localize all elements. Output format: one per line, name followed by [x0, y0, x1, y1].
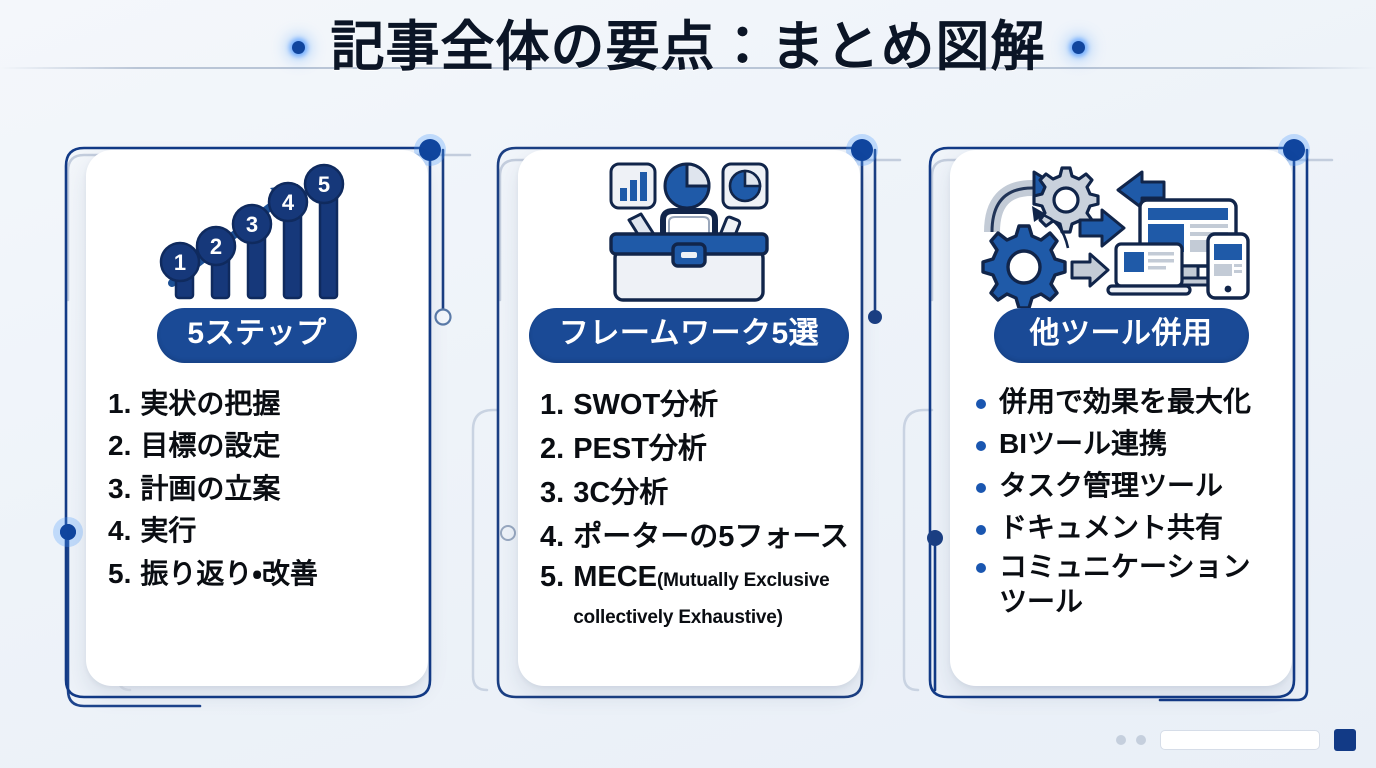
card-title-frameworks: フレームワーク5選	[529, 308, 849, 363]
list-item: ドキュメント共有	[976, 507, 1278, 549]
item-number: 4.	[108, 510, 131, 553]
list-item: コミュニケーションツール	[976, 549, 1278, 621]
step-growth-chart-icon: 1 2 3 4 5	[86, 150, 428, 308]
list-item: 4. ポーターの5フォース	[540, 515, 846, 559]
footer-controls	[1116, 729, 1356, 751]
item-number: 1.	[108, 383, 131, 426]
list-item: 2. 目標の設定	[108, 425, 414, 468]
item-text: 振り返り・改善	[140, 553, 414, 596]
list-item: 1. 実状の把握	[108, 383, 414, 426]
item-number: 4.	[540, 515, 564, 559]
list-item: 3. 3C分析	[540, 471, 846, 515]
progress-bar[interactable]	[1160, 730, 1320, 750]
card-frameworks[interactable]: フレームワーク5選 1. SWOT分析 2. PEST分析 3. 3C分析 4.…	[518, 150, 860, 686]
item-text: 併用で効果を最大化	[999, 381, 1278, 423]
item-text: MECE	[573, 561, 657, 593]
card-title-steps: 5ステップ	[157, 308, 356, 363]
item-number: 1.	[540, 383, 564, 427]
item-number: 3.	[540, 471, 564, 515]
title-right-dot-icon	[1072, 41, 1085, 54]
item-number: 3.	[108, 468, 131, 511]
step-label-1: 1	[173, 250, 185, 275]
list-item: 2. PEST分析	[540, 427, 846, 471]
item-text-wrap: MECE(Mutually Exclusive collectively Exh…	[573, 559, 846, 633]
footer-square-icon[interactable]	[1334, 729, 1356, 751]
item-number: 2.	[540, 427, 564, 471]
item-number: 2.	[108, 425, 131, 468]
list-item: BIツール連携	[976, 423, 1278, 465]
list-item: 5. 振り返り・改善	[108, 553, 414, 596]
item-text: タスク管理ツール	[999, 465, 1278, 507]
step-label-4: 4	[281, 190, 294, 215]
gears-devices-integration-icon	[950, 150, 1292, 308]
step-label-3: 3	[245, 212, 257, 237]
step-label-5: 5	[317, 172, 329, 197]
other-tools-list: 併用で効果を最大化 BIツール連携 タスク管理ツール ドキュメント共有 コミュニ…	[950, 369, 1292, 621]
item-text: 目標の設定	[140, 425, 414, 468]
card-steps[interactable]: 1 2 3 4 5 5ステップ 1. 実状の把握 2. 目標の設定 3. 計画の…	[86, 150, 428, 686]
footer-dot-2-icon	[1136, 735, 1146, 745]
bullet-dot-icon	[976, 563, 986, 573]
steps-list: 1. 実状の把握 2. 目標の設定 3. 計画の立案 4. 実行 5. 振り返り…	[86, 369, 428, 596]
bullet-dot-icon	[976, 441, 986, 451]
list-item: タスク管理ツール	[976, 465, 1278, 507]
item-number: 5.	[540, 559, 564, 596]
item-number: 5.	[108, 553, 131, 596]
title-left-dot-icon	[292, 41, 305, 54]
item-text: ポーターの5フォース	[573, 515, 849, 559]
list-item: 併用で効果を最大化	[976, 381, 1278, 423]
item-text: BIツール連携	[999, 423, 1278, 465]
frameworks-list: 1. SWOT分析 2. PEST分析 3. 3C分析 4. ポーターの5フォー…	[518, 369, 860, 634]
card-title-other-tools: 他ツール併用	[994, 308, 1249, 363]
bullet-dot-icon	[976, 483, 986, 493]
bullet-dot-icon	[976, 399, 986, 409]
item-text: 実行	[140, 510, 414, 553]
item-text: 実状の把握	[140, 383, 414, 426]
card-other-tools[interactable]: 他ツール併用 併用で効果を最大化 BIツール連携 タスク管理ツール ドキュメント…	[950, 150, 1292, 686]
item-text: 3C分析	[573, 471, 846, 515]
slide-canvas: 記事全体の要点：まとめ図解	[0, 0, 1376, 768]
page-title: 記事全体の要点：まとめ図解	[331, 20, 1046, 74]
list-item-mece: 5. MECE(Mutually Exclusive collectively …	[540, 559, 846, 633]
item-text: PEST分析	[573, 427, 846, 471]
item-text: SWOT分析	[573, 383, 846, 427]
bullet-dot-icon	[976, 525, 986, 535]
list-item: 1. SWOT分析	[540, 383, 846, 427]
footer-dot-1-icon	[1116, 735, 1126, 745]
step-label-2: 2	[209, 234, 221, 259]
toolbox-charts-icon	[518, 150, 860, 308]
list-item: 3. 計画の立案	[108, 468, 414, 511]
list-item: 4. 実行	[108, 510, 414, 553]
item-text: 計画の立案	[140, 468, 414, 511]
page-title-row: 記事全体の要点：まとめ図解	[0, 20, 1376, 74]
item-text: ドキュメント共有	[999, 507, 1278, 549]
item-text: コミュニケーションツール	[999, 549, 1278, 621]
